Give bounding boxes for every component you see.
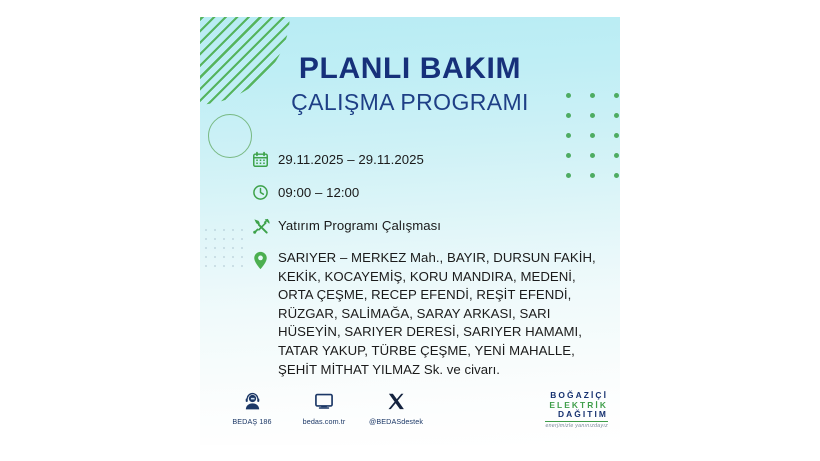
contact-label-website: bedas.com.tr (288, 417, 360, 426)
date-range-value: 29.11.2025 – 29.11.2025 (278, 150, 424, 169)
contact-label-twitter: @BEDASdestek (360, 417, 432, 426)
bedas-logo: BOĞAZİÇİ ELEKTRİK DAĞITIM enerjimizle ya… (545, 391, 608, 429)
page-title: PLANLI BAKIM (200, 53, 620, 85)
contact-item-twitter[interactable]: @BEDASdestek (360, 389, 432, 426)
support-agent-icon (216, 389, 288, 413)
address-value: SARIYER – MERKEZ Mah., BAYIR, DURSUN FAK… (278, 249, 602, 379)
tools-icon (252, 216, 278, 236)
detail-row-date: 29.11.2025 – 29.11.2025 (252, 150, 602, 170)
work-type-value: Yatırım Programı Çalışması (278, 216, 441, 235)
location-pin-icon (252, 249, 278, 270)
brand-tagline: enerjimizle yanınızdayız (545, 423, 608, 429)
maintenance-notice-card: PLANLI BAKIM ÇALIŞMA PROGRAMI 29.11.2025… (200, 17, 620, 445)
detail-row-address: SARIYER – MERKEZ Mah., BAYIR, DURSUN FAK… (252, 249, 602, 379)
detail-row-time: 09:00 – 12:00 (252, 183, 602, 203)
brand-divider (545, 421, 608, 422)
time-range-value: 09:00 – 12:00 (278, 183, 359, 202)
contact-item-website[interactable]: bedas.com.tr (288, 389, 360, 426)
dot-grid-left-decoration (205, 229, 250, 274)
contact-channels: BEDAŞ 186 bedas.com.tr (216, 389, 432, 426)
circle-outline-decoration (208, 114, 252, 158)
clock-icon (252, 183, 278, 203)
detail-row-work-type: Yatırım Programı Çalışması (252, 216, 602, 236)
notice-details: 29.11.2025 – 29.11.2025 09:00 – 12:00 (252, 150, 602, 379)
contact-item-phone[interactable]: BEDAŞ 186 (216, 389, 288, 426)
x-twitter-icon (360, 389, 432, 413)
calendar-icon (252, 150, 278, 170)
page-subtitle: ÇALIŞMA PROGRAMI (200, 89, 620, 115)
brand-line-3: DAĞITIM (545, 410, 608, 420)
poster-footer: BEDAŞ 186 bedas.com.tr (200, 389, 620, 445)
monitor-icon (288, 389, 360, 413)
poster-header: PLANLI BAKIM ÇALIŞMA PROGRAMI (200, 53, 620, 115)
contact-label-phone: BEDAŞ 186 (216, 417, 288, 426)
